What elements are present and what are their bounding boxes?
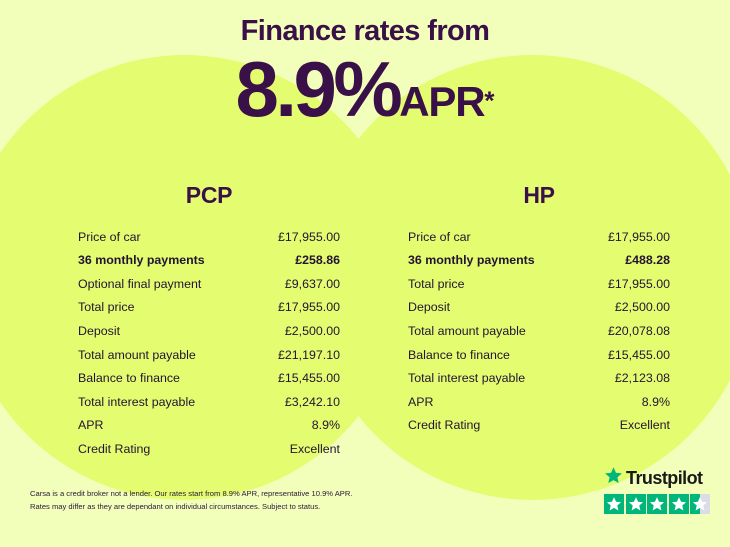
row-label: Total price bbox=[78, 301, 134, 313]
table-row: 36 monthly payments£488.28 bbox=[408, 249, 670, 273]
trustpilot-rating[interactable]: Trustpilot bbox=[604, 466, 716, 514]
trustpilot-star-rating bbox=[604, 494, 716, 514]
table-row: Price of car£17,955.00 bbox=[78, 225, 340, 249]
row-value: £2,500.00 bbox=[285, 325, 340, 337]
table-row: Credit RatingExcellent bbox=[408, 414, 670, 438]
table-row: APR8.9% bbox=[408, 390, 670, 414]
disclaimer-line-1: Carsa is a credit broker not a lender. O… bbox=[30, 488, 470, 501]
row-value: £17,955.00 bbox=[608, 278, 670, 290]
banner-header: Finance rates from 8.9%APR* bbox=[0, 0, 730, 128]
plan-title-pcp: PCP bbox=[78, 182, 340, 209]
row-label: Price of car bbox=[78, 231, 141, 243]
trustpilot-star-box bbox=[604, 494, 624, 514]
row-value: £15,455.00 bbox=[608, 349, 670, 361]
trustpilot-star-box bbox=[690, 494, 710, 514]
row-value: £21,197.10 bbox=[278, 349, 340, 361]
row-value: £488.28 bbox=[625, 254, 670, 266]
rate-unit-apr: APR bbox=[399, 78, 484, 125]
row-label: Balance to finance bbox=[408, 349, 510, 361]
table-row: Price of car£17,955.00 bbox=[408, 225, 670, 249]
finance-rates-banner: Finance rates from 8.9%APR* PCP Price of… bbox=[0, 0, 730, 547]
row-label: Price of car bbox=[408, 231, 471, 243]
table-row: Total price£17,955.00 bbox=[408, 272, 670, 296]
row-value: Excellent bbox=[290, 443, 340, 455]
row-label: Deposit bbox=[78, 325, 120, 337]
row-label: APR bbox=[408, 396, 433, 408]
row-label: Total amount payable bbox=[78, 349, 196, 361]
row-label: 36 monthly payments bbox=[78, 254, 205, 266]
plan-table-pcp: PCP Price of car£17,955.0036 monthly pay… bbox=[78, 182, 340, 461]
trustpilot-logo: Trustpilot bbox=[604, 466, 716, 490]
row-label: Credit Rating bbox=[78, 443, 150, 455]
row-value: £258.86 bbox=[295, 254, 340, 266]
table-row: Deposit£2,500.00 bbox=[78, 319, 340, 343]
row-value: 8.9% bbox=[312, 419, 340, 431]
row-value: £17,955.00 bbox=[278, 301, 340, 313]
row-label: 36 monthly payments bbox=[408, 254, 535, 266]
row-value: £15,455.00 bbox=[278, 372, 340, 384]
plan-table-hp: HP Price of car£17,955.0036 monthly paym… bbox=[408, 182, 670, 437]
table-row: Balance to finance£15,455.00 bbox=[408, 343, 670, 367]
row-label: Total interest payable bbox=[408, 372, 525, 384]
row-label: Total interest payable bbox=[78, 396, 195, 408]
rate-value: 8.9% bbox=[236, 45, 400, 133]
plan-title-hp: HP bbox=[408, 182, 670, 209]
row-value: £20,078.08 bbox=[608, 325, 670, 337]
table-row: Total interest payable£3,242.10 bbox=[78, 390, 340, 414]
row-value: £17,955.00 bbox=[608, 231, 670, 243]
trustpilot-star-icon bbox=[604, 466, 623, 490]
row-value: £9,637.00 bbox=[285, 278, 340, 290]
table-row: Total amount payable£20,078.08 bbox=[408, 319, 670, 343]
table-row: Total interest payable£2,123.08 bbox=[408, 367, 670, 391]
rate-headline: 8.9%APR* bbox=[0, 50, 730, 128]
row-value: Excellent bbox=[620, 419, 670, 431]
row-value: £2,500.00 bbox=[615, 301, 670, 313]
row-value: £3,242.10 bbox=[285, 396, 340, 408]
row-label: Total amount payable bbox=[408, 325, 526, 337]
trustpilot-star-box bbox=[626, 494, 646, 514]
table-row: 36 monthly payments£258.86 bbox=[78, 249, 340, 273]
rate-asterisk: * bbox=[484, 86, 494, 116]
table-row: Credit RatingExcellent bbox=[78, 437, 340, 461]
disclaimer-line-2: Rates may differ as they are dependant o… bbox=[30, 501, 470, 514]
page-title: Finance rates from bbox=[0, 16, 730, 46]
row-label: APR bbox=[78, 419, 103, 431]
disclaimer-text: Carsa is a credit broker not a lender. O… bbox=[30, 488, 470, 513]
row-label: Deposit bbox=[408, 301, 450, 313]
table-row: Total price£17,955.00 bbox=[78, 296, 340, 320]
table-row: Optional final payment£9,637.00 bbox=[78, 272, 340, 296]
row-label: Optional final payment bbox=[78, 278, 201, 290]
table-row: Deposit£2,500.00 bbox=[408, 296, 670, 320]
row-label: Total price bbox=[408, 278, 464, 290]
table-row: Balance to finance£15,455.00 bbox=[78, 367, 340, 391]
row-value: 8.9% bbox=[642, 396, 670, 408]
plan-rows-hp: Price of car£17,955.0036 monthly payment… bbox=[408, 225, 670, 437]
trustpilot-wordmark: Trustpilot bbox=[626, 469, 703, 487]
plan-rows-pcp: Price of car£17,955.0036 monthly payment… bbox=[78, 225, 340, 461]
table-row: Total amount payable£21,197.10 bbox=[78, 343, 340, 367]
table-row: APR8.9% bbox=[78, 414, 340, 438]
row-value: £2,123.08 bbox=[615, 372, 670, 384]
row-value: £17,955.00 bbox=[278, 231, 340, 243]
trustpilot-star-box bbox=[669, 494, 689, 514]
trustpilot-star-box bbox=[647, 494, 667, 514]
row-label: Credit Rating bbox=[408, 419, 480, 431]
row-label: Balance to finance bbox=[78, 372, 180, 384]
